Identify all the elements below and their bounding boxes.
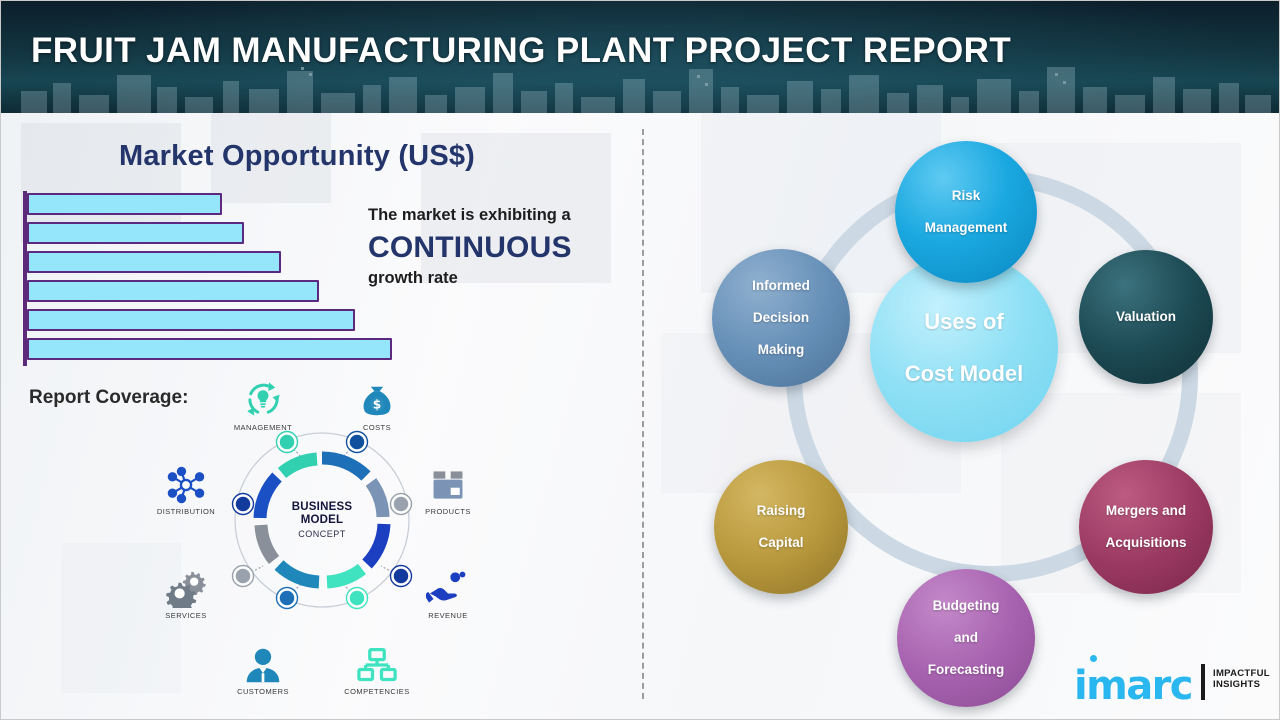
- business-model-core: BUSINESS MODEL CONCEPT: [256, 454, 388, 586]
- page-title: FRUIT JAM MANUFACTURING PLANT PROJECT RE…: [31, 31, 1011, 71]
- coverage-label-competencies: COMPETENCIES: [329, 687, 425, 696]
- node-informed-decision-making[interactable]: Informed Decision Making: [712, 249, 850, 387]
- center-line-1: Uses of: [899, 309, 1030, 335]
- business-model-infographic: BUSINESS MODEL CONCEPT: [151, 376, 491, 701]
- node-label-line-1: Risk: [919, 188, 1014, 204]
- coverage-item-distribution: DISTRIBUTION: [138, 458, 234, 516]
- svg-text:$: $: [373, 398, 382, 412]
- node-risk-management[interactable]: Risk Management: [895, 141, 1037, 283]
- tagline-line-1: The market is exhibiting a: [368, 206, 638, 224]
- chart-bar: [27, 338, 392, 360]
- coverage-label-products: PRODUCTS: [400, 507, 496, 516]
- node-label-line-2: and: [922, 630, 1011, 646]
- uses-of-cost-model-diagram: Uses of Cost Model Risk Management Valua…: [642, 113, 1280, 719]
- coverage-item-services: SERVICES: [138, 562, 234, 620]
- slide-root: FRUIT JAM MANUFACTURING PLANT PROJECT RE…: [0, 0, 1280, 720]
- tagline-line-3: growth rate: [368, 269, 638, 288]
- node-label-line-3: Making: [746, 342, 816, 358]
- coverage-label-costs: COSTS: [329, 423, 425, 432]
- center-line-2: Cost Model: [899, 361, 1030, 387]
- org-chart-icon: [329, 638, 425, 684]
- market-opportunity-bar-chart: [23, 191, 423, 366]
- chart-bar: [27, 222, 244, 244]
- node-budgeting-forecasting[interactable]: Budgeting and Forecasting: [897, 569, 1035, 707]
- coverage-item-management: MANAGEMENT: [215, 374, 311, 432]
- market-opportunity-title: Market Opportunity (US$): [119, 140, 475, 173]
- coverage-label-distribution: DISTRIBUTION: [138, 507, 234, 516]
- node-label-line-1: Raising: [751, 503, 812, 519]
- node-label-line-1: Informed: [746, 278, 816, 294]
- chart-bar: [27, 193, 222, 215]
- chart-bar: [27, 280, 319, 302]
- bm-center-line-3: CONCEPT: [298, 529, 346, 539]
- node-valuation[interactable]: Valuation: [1079, 250, 1213, 384]
- node-label-line-2: Acquisitions: [1099, 535, 1192, 551]
- money-bag-icon: $: [329, 374, 425, 420]
- market-tagline: The market is exhibiting a CONTINUOUS gr…: [368, 206, 638, 288]
- node-raising-capital[interactable]: Raising Capital: [714, 460, 848, 594]
- node-label-line-2: Capital: [751, 535, 812, 551]
- coverage-label-management: MANAGEMENT: [215, 423, 311, 432]
- coverage-item-revenue: REVENUE: [400, 562, 496, 620]
- node-label-line-2: Management: [919, 220, 1014, 236]
- chart-bar: [27, 251, 281, 273]
- node-label-line-3: Forecasting: [922, 662, 1011, 678]
- node-label-line-1: Budgeting: [922, 598, 1011, 614]
- recycle-lightbulb-icon: [215, 374, 311, 420]
- imarc-logo: imarc IMPACTFUL INSIGHTS: [1074, 661, 1274, 707]
- header-banner: FRUIT JAM MANUFACTURING PLANT PROJECT RE…: [1, 1, 1280, 113]
- node-mergers-acquisitions[interactable]: Mergers and Acquisitions: [1079, 460, 1213, 594]
- gears-icon: [138, 562, 234, 608]
- tagline-highlight: CONTINUOUS: [368, 229, 638, 267]
- coverage-label-customers: CUSTOMERS: [215, 687, 311, 696]
- coverage-item-customers: CUSTOMERS: [215, 638, 311, 696]
- coverage-item-costs: $ COSTS: [329, 374, 425, 432]
- node-label-line-2: Decision: [746, 310, 816, 326]
- logo-dot-icon: [1090, 655, 1097, 662]
- node-label-line-1: Mergers and: [1099, 503, 1192, 519]
- hand-coins-icon: [400, 562, 496, 608]
- box-package-icon: [400, 458, 496, 504]
- node-label-line-1: Valuation: [1110, 309, 1182, 325]
- chart-bar: [27, 309, 355, 331]
- logo-tagline-line-2: INSIGHTS: [1213, 680, 1270, 691]
- coverage-label-services: SERVICES: [138, 611, 234, 620]
- person-user-icon: [215, 638, 311, 684]
- coverage-label-revenue: REVENUE: [400, 611, 496, 620]
- logo-tagline: IMPACTFUL INSIGHTS: [1213, 669, 1270, 691]
- network-nodes-icon: [138, 458, 234, 504]
- bm-center-line-2: MODEL: [301, 514, 344, 527]
- logo-wordmark: imarc: [1074, 663, 1192, 709]
- coverage-item-products: PRODUCTS: [400, 458, 496, 516]
- bm-center-line-1: BUSINESS: [292, 501, 352, 514]
- logo-divider: [1201, 664, 1205, 700]
- coverage-item-competencies: COMPETENCIES: [329, 638, 425, 696]
